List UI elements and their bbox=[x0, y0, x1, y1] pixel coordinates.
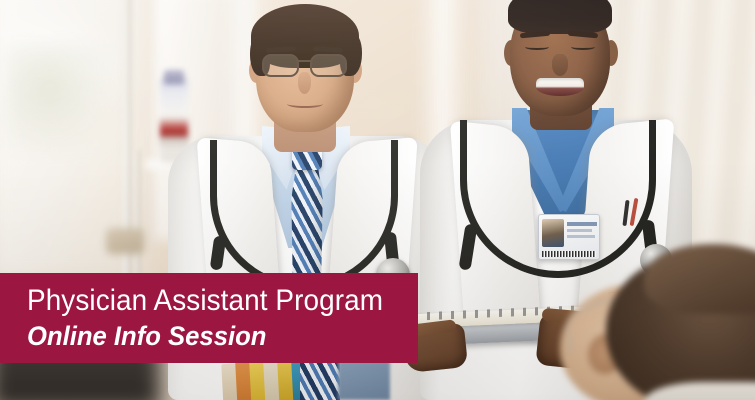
iv-pole-base bbox=[106, 228, 144, 254]
promo-banner: Physician Assistant Program Online Info … bbox=[0, 0, 755, 400]
eye-right bbox=[571, 44, 595, 50]
background-glassware bbox=[5, 45, 115, 155]
id-badge-photo bbox=[542, 219, 564, 247]
eyeglasses-lens-left bbox=[262, 54, 299, 77]
id-badge-detail-line bbox=[567, 229, 592, 232]
iv-pole-lower bbox=[133, 150, 140, 280]
title-banner: Physician Assistant Program Online Info … bbox=[0, 273, 418, 363]
nose bbox=[298, 72, 311, 94]
eyeglasses-lens-right bbox=[310, 54, 347, 77]
eyeglasses-bridge bbox=[298, 60, 311, 62]
id-badge-detail-line bbox=[567, 235, 595, 238]
smile bbox=[536, 78, 584, 96]
nose bbox=[552, 54, 568, 76]
patient-head bbox=[548, 250, 755, 400]
id-badge-name-line bbox=[567, 222, 597, 226]
banner-title: Physician Assistant Program bbox=[27, 283, 391, 319]
mouth bbox=[287, 100, 323, 108]
banner-subtitle: Online Info Session bbox=[27, 320, 398, 353]
hair bbox=[508, 0, 612, 34]
patient-hair-top bbox=[644, 244, 755, 314]
eye-left bbox=[525, 44, 549, 50]
